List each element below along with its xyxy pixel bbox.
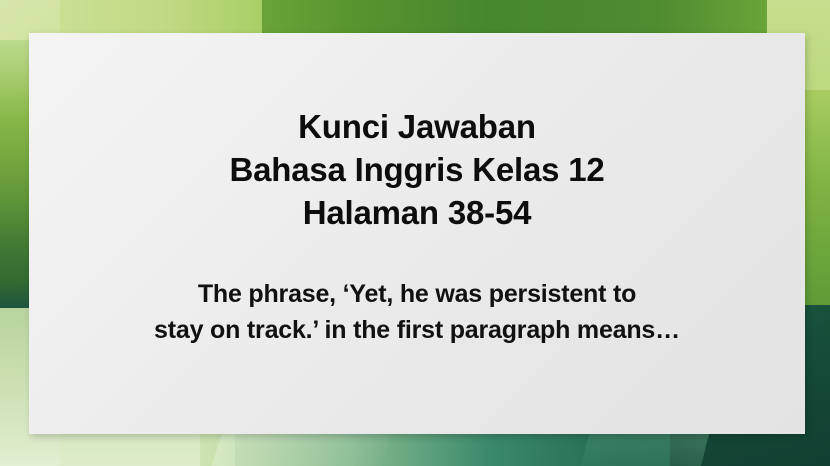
- subtitle-line-2: stay on track.’ in the first paragraph m…: [53, 312, 781, 348]
- slide-title: Kunci Jawaban Bahasa Inggris Kelas 12 Ha…: [53, 105, 781, 234]
- content-card: Kunci Jawaban Bahasa Inggris Kelas 12 Ha…: [29, 33, 805, 434]
- slide-canvas: Kunci Jawaban Bahasa Inggris Kelas 12 Ha…: [0, 0, 830, 466]
- title-line-3: Halaman 38-54: [53, 191, 781, 234]
- title-line-2: Bahasa Inggris Kelas 12: [53, 148, 781, 191]
- title-line-1: Kunci Jawaban: [53, 105, 781, 148]
- slide-subtitle: The phrase, ‘Yet, he was persistent to s…: [53, 276, 781, 348]
- card-content: Kunci Jawaban Bahasa Inggris Kelas 12 Ha…: [29, 33, 805, 348]
- subtitle-line-1: The phrase, ‘Yet, he was persistent to: [53, 276, 781, 312]
